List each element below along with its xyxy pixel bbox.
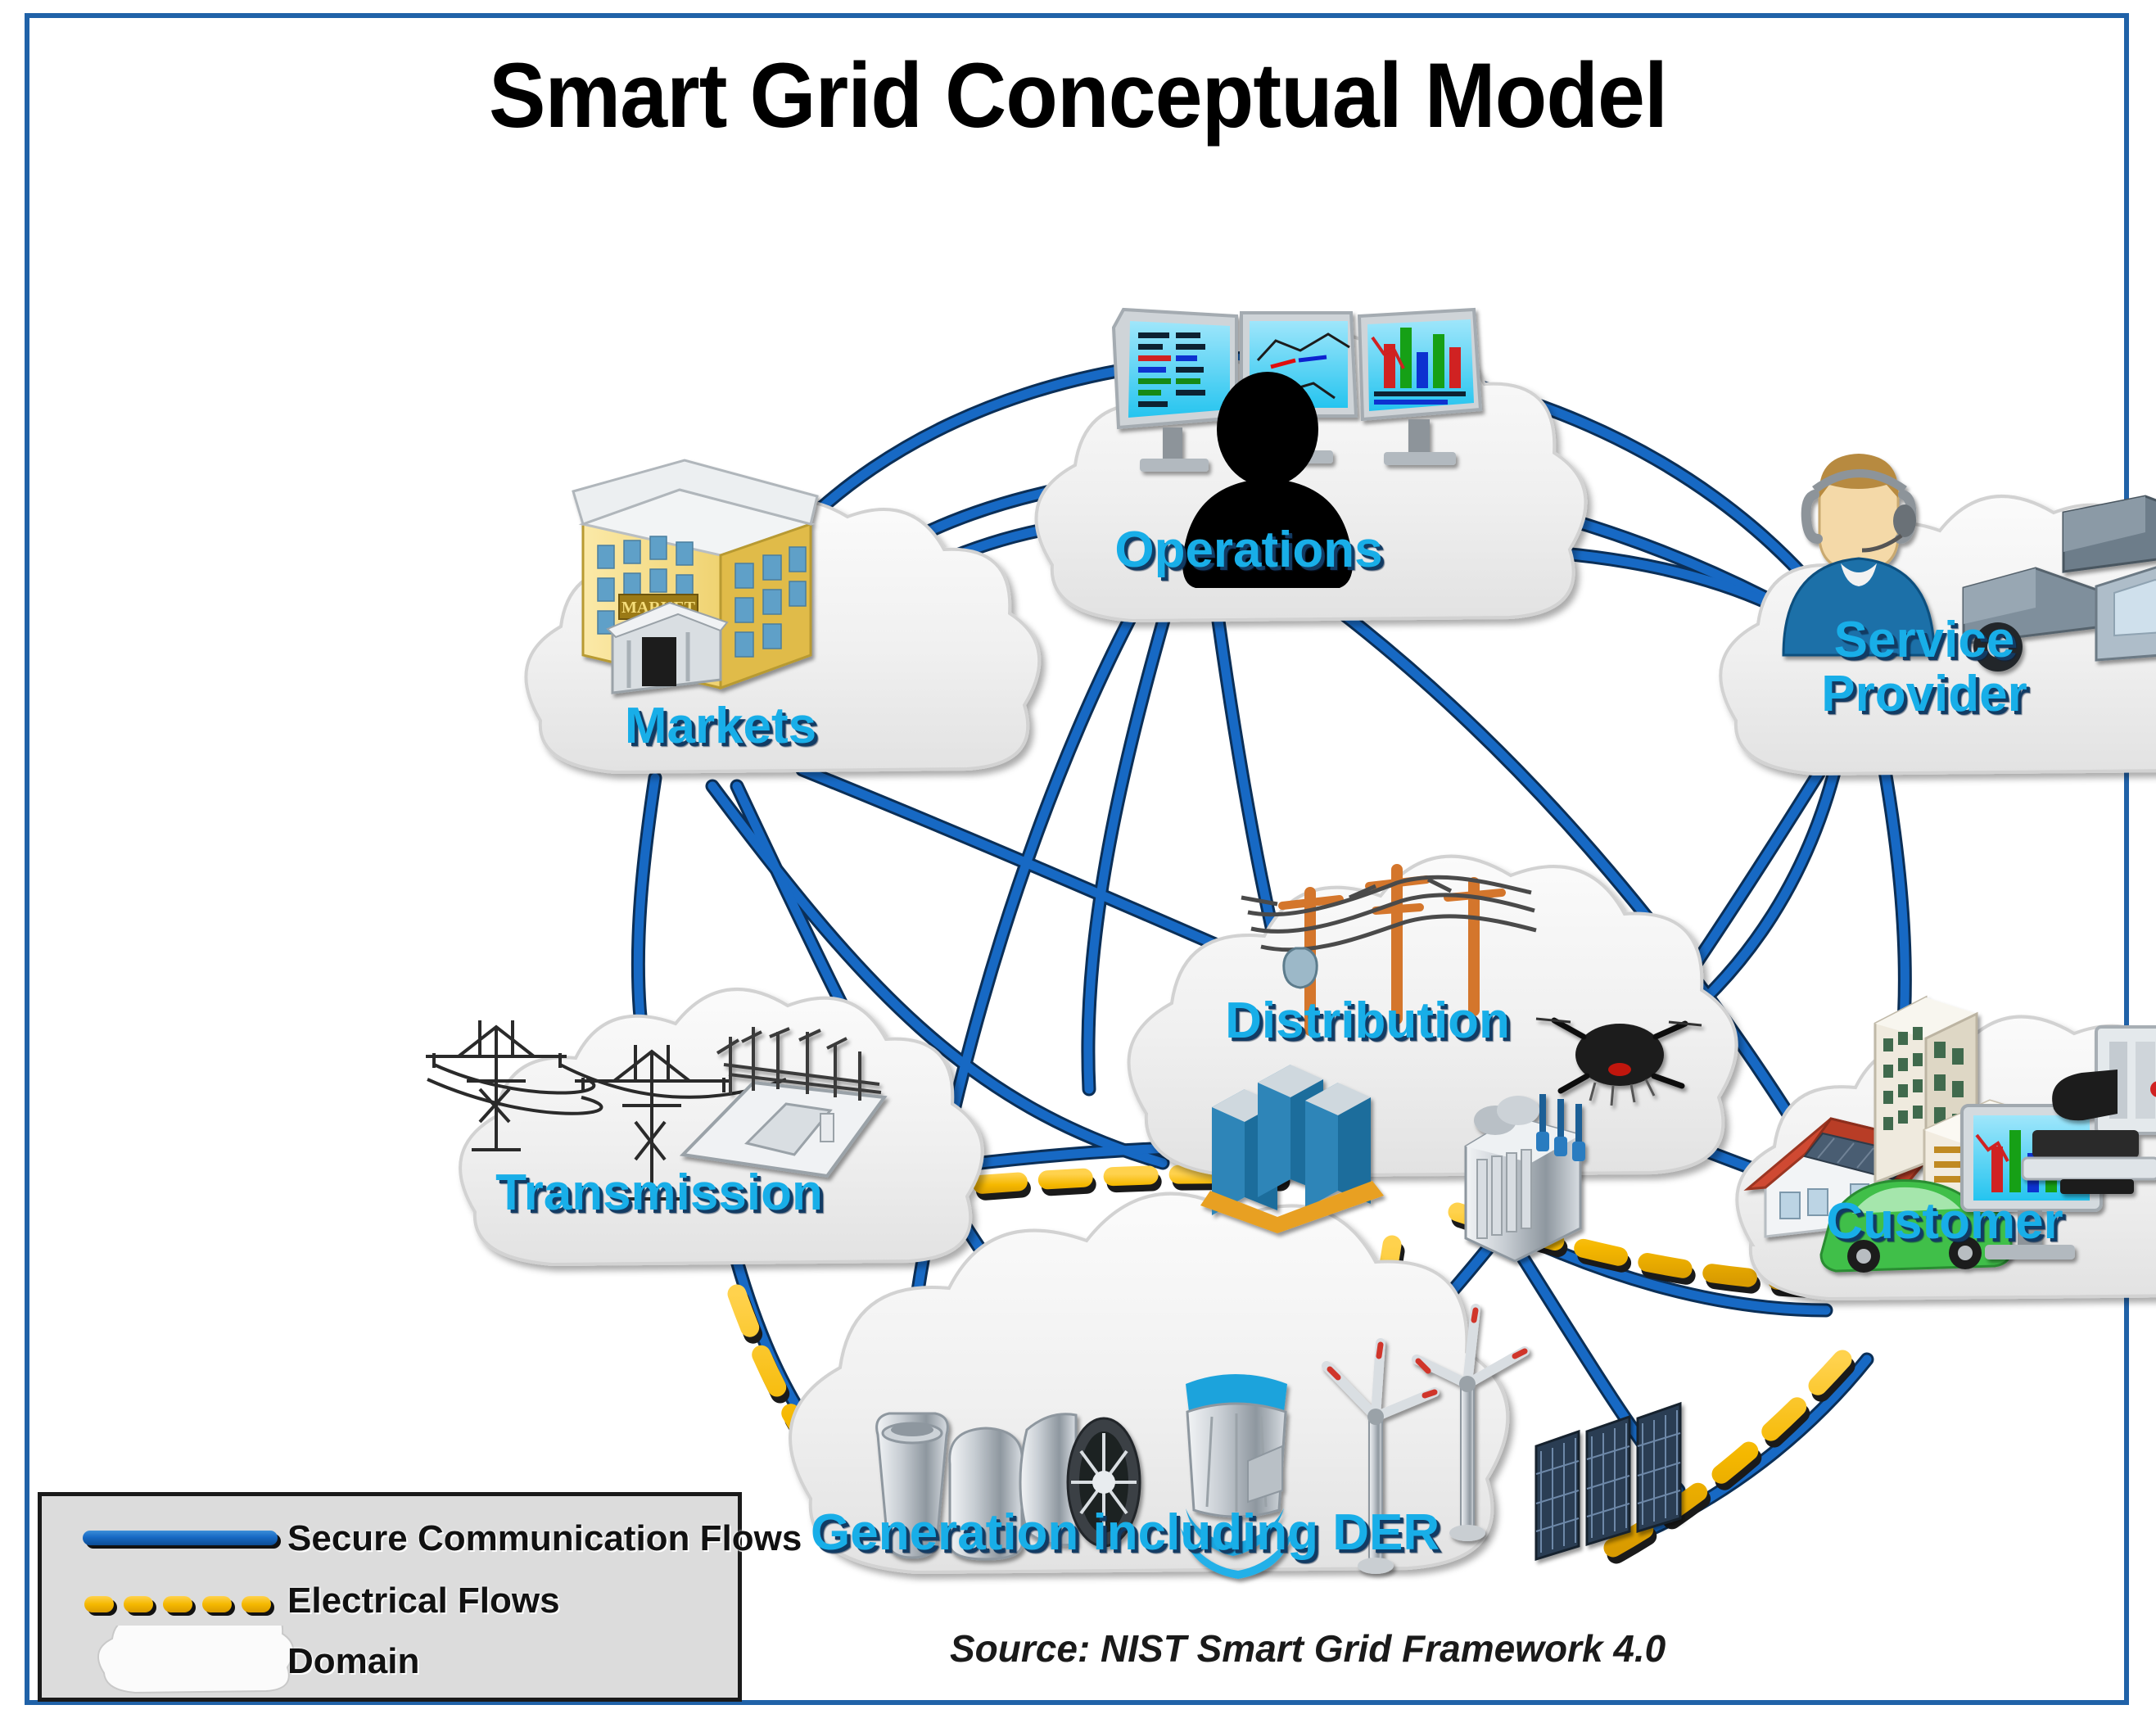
legend-row-domain[interactable]: Domain: [42, 1626, 738, 1698]
diagram-canvas: MARKET: [0, 0, 2156, 1723]
legend-row-communication[interactable]: Secure Communication Flows: [42, 1509, 738, 1568]
service-provider-label-line1: Service: [1736, 614, 2113, 666]
solid-blue-line-icon: [75, 1509, 296, 1568]
service-provider-label-line2: Provider: [1736, 668, 2113, 720]
markets-label: Markets: [540, 700, 901, 752]
market-building-icon: MARKET: [573, 460, 817, 693]
legend-label-electrical: Electrical Flows: [287, 1572, 560, 1630]
cloud-shape-icon: [75, 1626, 296, 1698]
legend-label-domain: Domain: [287, 1626, 419, 1698]
legend-panel: Secure Communication Flows Electrical Fl…: [38, 1492, 742, 1702]
customer-label: Customer: [1752, 1196, 2137, 1247]
transmission-label: Transmission: [471, 1167, 847, 1219]
legend-label-communication: Secure Communication Flows: [287, 1509, 802, 1568]
operations-label: Operations: [1052, 524, 1445, 576]
solar-panel-icon: [1536, 1404, 1680, 1559]
generation-label: Generation including DER: [811, 1507, 1327, 1558]
distribution-label: Distribution: [1146, 995, 1589, 1047]
legend-row-electrical[interactable]: Electrical Flows: [42, 1572, 738, 1630]
source-attribution: Source: NIST Smart Grid Framework 4.0: [950, 1626, 1605, 1671]
yellow-dashed-line-icon: [75, 1572, 296, 1630]
